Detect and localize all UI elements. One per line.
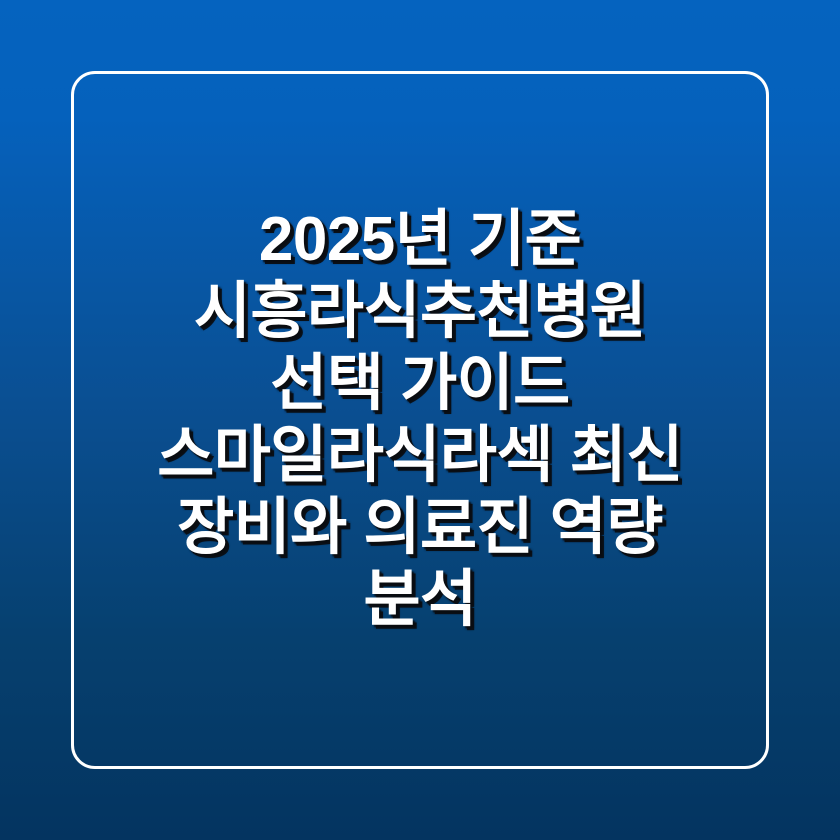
headline-line-6: 분석 [86,564,754,636]
headline-line-3: 선택 가이드 [86,348,754,420]
poster-canvas: 2025년 기준 시흥라식추천병원 선택 가이드 스마일라식라섹 최신 장비와 … [0,0,840,840]
headline-line-1: 2025년 기준 [86,204,754,276]
headline-line-2: 시흥라식추천병원 [86,276,754,348]
headline-line-4: 스마일라식라섹 최신 [86,420,754,492]
headline-line-5: 장비와 의료진 역량 [86,492,754,564]
headline-block: 2025년 기준 시흥라식추천병원 선택 가이드 스마일라식라섹 최신 장비와 … [0,0,840,840]
